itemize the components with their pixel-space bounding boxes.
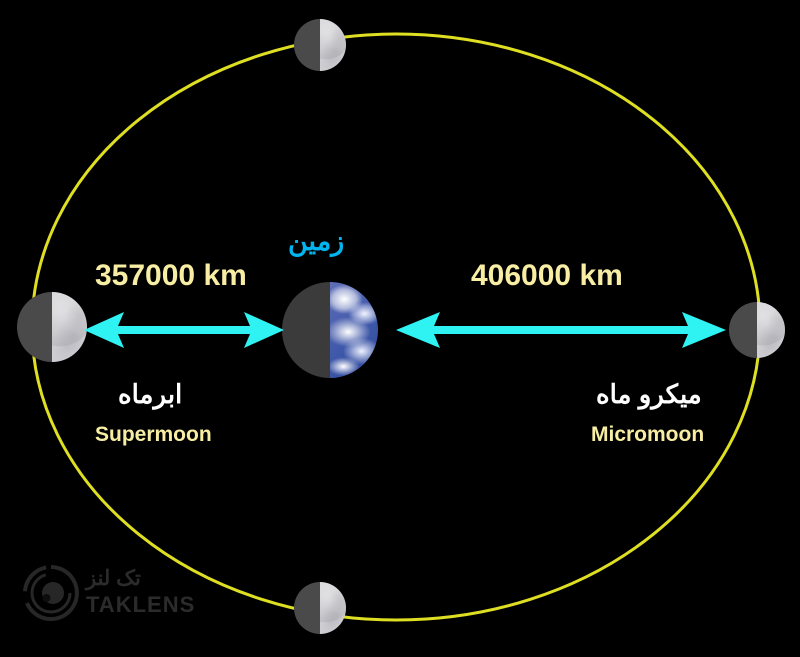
moon-top-dark-half [294,19,320,71]
supermoon-distance-arrow [84,306,284,354]
watermark-text-en: TAKLENS [86,592,195,618]
earth-label: زمین [288,228,344,255]
moon-bottom-icon [294,582,346,634]
diagram-canvas: زمین 357000 km 406000 km ابرماه Supermoo… [0,0,800,657]
supermoon-label-fa: ابرماه [118,381,182,407]
supermoon-dark-half [17,292,52,362]
moon-micromoon-icon [729,302,785,358]
taklens-lens-icon [22,564,80,622]
supermoon-distance-label: 357000 km [95,261,247,291]
supermoon-label-en: Supermoon [95,424,212,445]
earth-lit-half [330,282,378,378]
micromoon-dark-half [729,302,757,358]
micromoon-distance-label: 406000 km [471,261,623,291]
moon-top-lit-half [320,19,346,71]
watermark: تک لنز TAKLENS [22,558,192,643]
earth-icon [282,282,378,378]
watermark-text-fa: تک لنز [86,566,141,591]
micromoon-distance-arrow [396,306,726,354]
moon-top-icon [294,19,346,71]
earth-dark-half [282,282,330,378]
moon-bottom-dark-half [294,582,320,634]
micromoon-lit-half [757,302,785,358]
micromoon-label-fa: میکرو ماه [596,381,702,407]
moon-bottom-lit-half [320,582,346,634]
micromoon-label-en: Micromoon [591,424,704,445]
moon-supermoon-icon [17,292,87,362]
supermoon-lit-half [52,292,87,362]
